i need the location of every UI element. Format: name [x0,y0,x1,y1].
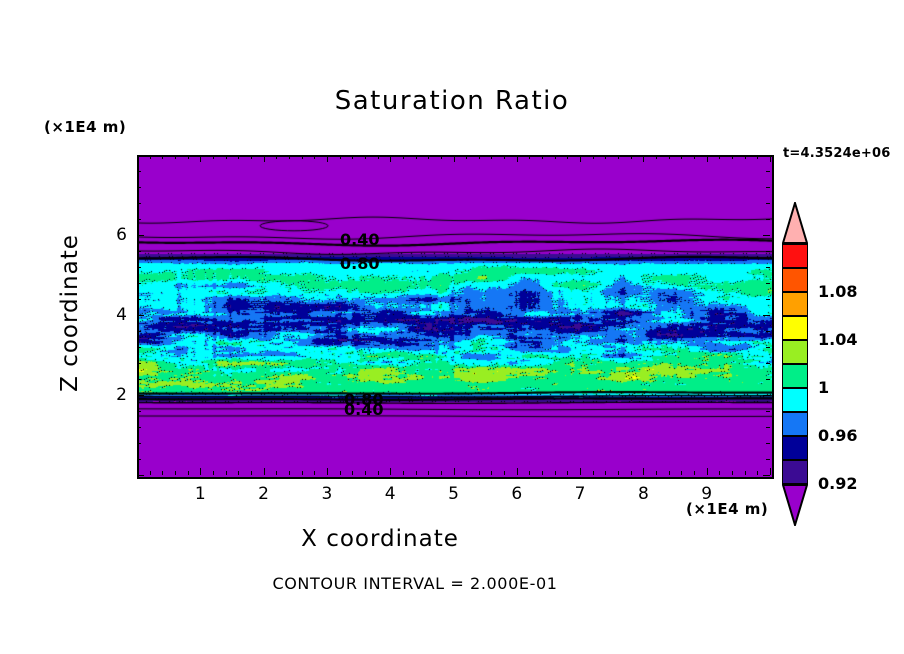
y-tick-label: 4 [97,305,127,325]
y-tick-right [766,363,770,364]
x-tick [137,468,138,475]
y-tick [137,187,141,188]
x-tick-top [504,155,505,159]
x-tick-label: 4 [370,484,410,504]
x-tick [529,471,530,475]
x-tick-label: 2 [244,484,284,504]
x-tick [327,468,328,475]
x-tick [378,471,379,475]
colorbar: 1.081.0410.960.92 [782,202,808,502]
y-tick [137,155,144,156]
x-tick [441,471,442,475]
x-tick-top [580,155,581,162]
x-tick-top [251,155,252,159]
x-tick-top [605,155,606,159]
colorbar-band [782,244,808,268]
x-tick-top [175,155,176,159]
y-tick-right [766,251,770,252]
x-tick-top [226,155,227,159]
y-tick-right [766,443,770,444]
y-tick [137,171,141,172]
x-axis-title: X coordinate [0,526,760,552]
x-tick [200,468,201,475]
x-tick [593,471,594,475]
x-tick-top [770,155,771,162]
y-tick-right [763,395,770,396]
x-tick [213,471,214,475]
x-tick-top [276,155,277,159]
y-tick-right [766,427,770,428]
y-tick-label: 6 [97,225,127,245]
x-tick-top [542,155,543,159]
x-tick [567,471,568,475]
x-tick [416,471,417,475]
x-tick-top [618,155,619,159]
x-tick [454,468,455,475]
x-tick [631,471,632,475]
x-tick-top [631,155,632,159]
y-tick [137,219,141,220]
x-tick-top [264,155,265,162]
x-tick [732,471,733,475]
y-tick [137,347,141,348]
colorbar-band [782,364,808,388]
x-tick [365,471,366,475]
contour-label-overlay: 0.400.800.800.40 [139,157,772,477]
x-tick [264,468,265,475]
x-tick-label: 3 [307,484,347,504]
colorbar-band [782,460,808,484]
x-tick-top [593,155,594,159]
y-tick-right [763,315,770,316]
y-tick-right [766,171,770,172]
x-tick-top [238,155,239,159]
colorbar-band [782,292,808,316]
y-tick-right [763,475,770,476]
x-tick [188,471,189,475]
x-tick [428,471,429,475]
x-tick-top [137,155,138,162]
x-tick-top [213,155,214,159]
colorbar-band [782,268,808,292]
y-axis-title: Z coordinate [57,183,83,443]
x-tick-top [289,155,290,159]
x-tick-top [302,155,303,159]
y-tick [137,235,144,236]
x-tick-top [390,155,391,162]
colorbar-band [782,436,808,460]
x-tick [605,471,606,475]
x-tick-top [669,155,670,159]
y-tick [137,283,141,284]
x-tick [175,471,176,475]
y-tick-label: 2 [97,385,127,405]
x-tick-top [416,155,417,159]
y-tick-right [766,459,770,460]
x-tick-top [732,155,733,159]
x-tick [669,471,670,475]
x-tick [504,471,505,475]
x-tick [656,471,657,475]
x-tick [251,471,252,475]
y-tick [137,379,141,380]
x-tick [707,468,708,475]
x-tick [352,471,353,475]
y-tick-right [763,235,770,236]
x-tick-top [441,155,442,159]
colorbar-tick-label: 1 [818,378,829,397]
x-tick [302,471,303,475]
x-tick [517,468,518,475]
x-tick-top [466,155,467,159]
y-tick-right [766,283,770,284]
y-tick-right [766,379,770,380]
x-tick-top [719,155,720,159]
x-tick-top [327,155,328,162]
x-tick [643,468,644,475]
contour-plot-area: 0.400.800.800.40 [137,155,774,479]
x-tick-top [643,155,644,162]
x-tick [340,471,341,475]
x-tick-top [428,155,429,159]
x-tick [542,471,543,475]
y-tick-right [766,299,770,300]
x-tick-top [757,155,758,159]
y-tick [137,251,141,252]
x-tick-top [378,155,379,159]
x-tick-top [365,155,366,159]
x-tick [162,471,163,475]
y-tick [137,443,141,444]
time-annotation: t=4.3524e+06 [783,146,890,161]
y-tick-right [766,411,770,412]
x-tick [479,471,480,475]
y-tick [137,203,141,204]
x-tick [694,471,695,475]
x-tick [491,471,492,475]
y-tick [137,299,141,300]
y-tick [137,395,144,396]
x-tick [745,471,746,475]
x-tick-top [150,155,151,159]
contour-label: 0.40 [344,400,383,419]
y-tick-right [763,155,770,156]
x-tick-top [491,155,492,159]
x-tick [719,471,720,475]
y-tick-right [766,187,770,188]
x-tick-top [162,155,163,159]
colorbar-bottom-cap [782,484,808,526]
y-tick-right [766,267,770,268]
x-tick-top [656,155,657,159]
x-tick-top [745,155,746,159]
x-tick-top [707,155,708,162]
colorbar-band [782,388,808,412]
x-tick [466,471,467,475]
x-tick [226,471,227,475]
colorbar-tick-label: 0.92 [818,474,857,493]
x-tick-top [454,155,455,162]
colorbar-band [782,412,808,436]
y-tick [137,331,141,332]
x-tick [238,471,239,475]
contour-label: 0.40 [340,230,379,249]
contour-label: 0.80 [340,254,379,273]
y-tick-right [766,347,770,348]
y-tick [137,459,141,460]
colorbar-tick-label: 1.08 [818,282,857,301]
x-tick-top [403,155,404,159]
colorbar-band [782,340,808,364]
x-tick-label: 6 [497,484,537,504]
x-tick-top [555,155,556,159]
x-tick-top [352,155,353,159]
colorbar-tick-label: 0.96 [818,426,857,445]
colorbar-tick-label: 1.04 [818,330,857,349]
x-tick [757,471,758,475]
x-tick-top [681,155,682,159]
colorbar-band [782,316,808,340]
x-tick-top [694,155,695,159]
y-tick [137,315,144,316]
x-tick-label: 8 [623,484,663,504]
colorbar-top-cap [782,202,808,244]
y-axis-unit: (×1E4 m) [44,118,126,136]
x-tick [390,468,391,475]
contour-interval-caption: CONTOUR INTERVAL = 2.000E-01 [0,574,830,593]
x-tick-top [567,155,568,159]
y-tick-right [766,331,770,332]
figure-canvas: Saturation Ratio (×1E4 m) (×1E4 m) t=4.3… [0,0,904,654]
y-tick [137,427,141,428]
x-tick-label: 7 [560,484,600,504]
y-tick [137,363,141,364]
y-tick [137,475,144,476]
x-tick [276,471,277,475]
y-tick-right [766,203,770,204]
x-tick-top [200,155,201,162]
x-tick [681,471,682,475]
page-title: Saturation Ratio [0,86,904,116]
y-tick [137,267,141,268]
x-tick [403,471,404,475]
x-tick-top [479,155,480,159]
x-tick [618,471,619,475]
x-tick-label: 9 [687,484,727,504]
x-tick-label: 5 [434,484,474,504]
x-tick-top [188,155,189,159]
x-tick-top [517,155,518,162]
x-tick [555,471,556,475]
y-tick [137,411,141,412]
x-tick-label: 1 [180,484,220,504]
x-tick-top [340,155,341,159]
x-tick-top [529,155,530,159]
x-tick [150,471,151,475]
x-tick [580,468,581,475]
x-tick-top [314,155,315,159]
x-tick [314,471,315,475]
x-tick [770,468,771,475]
y-tick-right [766,219,770,220]
x-tick [289,471,290,475]
